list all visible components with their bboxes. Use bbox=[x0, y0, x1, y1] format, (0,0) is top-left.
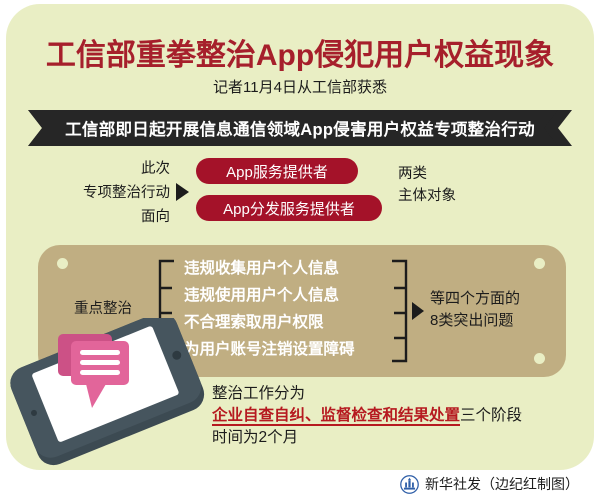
triangle-right-icon bbox=[176, 183, 189, 201]
targets-right-line2: 主体对象 bbox=[398, 185, 456, 207]
focus-item: 不合理索取用户权限 bbox=[184, 309, 394, 336]
focus-item: 违规收集用户个人信息 bbox=[184, 255, 394, 282]
infographic-root: 工信部重拳整治App侵犯用户权益现象 记者11月4日从工信部获悉 工信部即日起开… bbox=[0, 0, 600, 504]
focus-summary: 等四个方面的 8类突出问题 bbox=[430, 288, 520, 332]
schedule-highlight: 企业自查自纠、监督检查和结果处置 bbox=[212, 407, 460, 426]
targets-right-label: 两类 主体对象 bbox=[398, 163, 456, 207]
rivet-top-left-icon bbox=[57, 258, 68, 269]
rivet-bottom-right-icon bbox=[534, 353, 545, 364]
page-title: 工信部重拳整治App侵犯用户权益现象 bbox=[0, 30, 600, 74]
schedule-line3: 时间为2个月 bbox=[212, 427, 522, 449]
targets-left-label: 此次 专项整治行动 面向 bbox=[30, 157, 170, 229]
schedule-line1: 整治工作分为 bbox=[212, 383, 522, 405]
schedule-text: 整治工作分为 企业自查自纠、监督检查和结果处置三个阶段 时间为2个月 bbox=[212, 383, 522, 449]
focus-items-list: 违规收集用户个人信息 违规使用用户个人信息 不合理索取用户权限 为用户账号注销设… bbox=[184, 255, 394, 363]
headline-banner: 工信部即日起开展信息通信领域App侵害用户权益专项整治行动 bbox=[28, 110, 572, 146]
banner-text: 工信部即日起开展信息通信领域App侵害用户权益专项整治行动 bbox=[28, 110, 572, 146]
credit: 新华社发（边纪红制图） bbox=[400, 474, 579, 494]
focus-plate-label: 重点整治 bbox=[74, 297, 132, 318]
smartphone-icon bbox=[8, 318, 214, 470]
triangle-right-icon bbox=[412, 302, 424, 320]
focus-item: 为用户账号注销设置障碍 bbox=[184, 336, 394, 363]
schedule-line2: 企业自查自纠、监督检查和结果处置三个阶段 bbox=[212, 405, 522, 427]
page-subtitle: 记者11月4日从工信部获悉 bbox=[0, 76, 600, 97]
target-pill-2: App分发服务提供者 bbox=[196, 195, 382, 221]
targets-right-line1: 两类 bbox=[398, 163, 456, 185]
targets-section: 此次 专项整治行动 面向 App服务提供者 App分发服务提供者 两类 主体对象 bbox=[0, 155, 600, 235]
targets-left-line3: 面向 bbox=[30, 205, 170, 229]
rivet-top-right-icon bbox=[534, 258, 545, 269]
targets-left-line2: 专项整治行动 bbox=[30, 181, 170, 205]
bracket-right-icon bbox=[390, 259, 412, 363]
credit-text: 新华社发（边纪红制图） bbox=[425, 474, 579, 494]
focus-summary-line1: 等四个方面的 bbox=[430, 288, 520, 310]
focus-summary-line2: 8类突出问题 bbox=[430, 310, 520, 332]
targets-left-line1: 此次 bbox=[30, 157, 170, 181]
focus-item: 违规使用用户个人信息 bbox=[184, 282, 394, 309]
target-pill-1: App服务提供者 bbox=[196, 158, 358, 184]
xinhua-logo-icon bbox=[400, 475, 419, 494]
schedule-line2-tail: 三个阶段 bbox=[460, 407, 522, 424]
